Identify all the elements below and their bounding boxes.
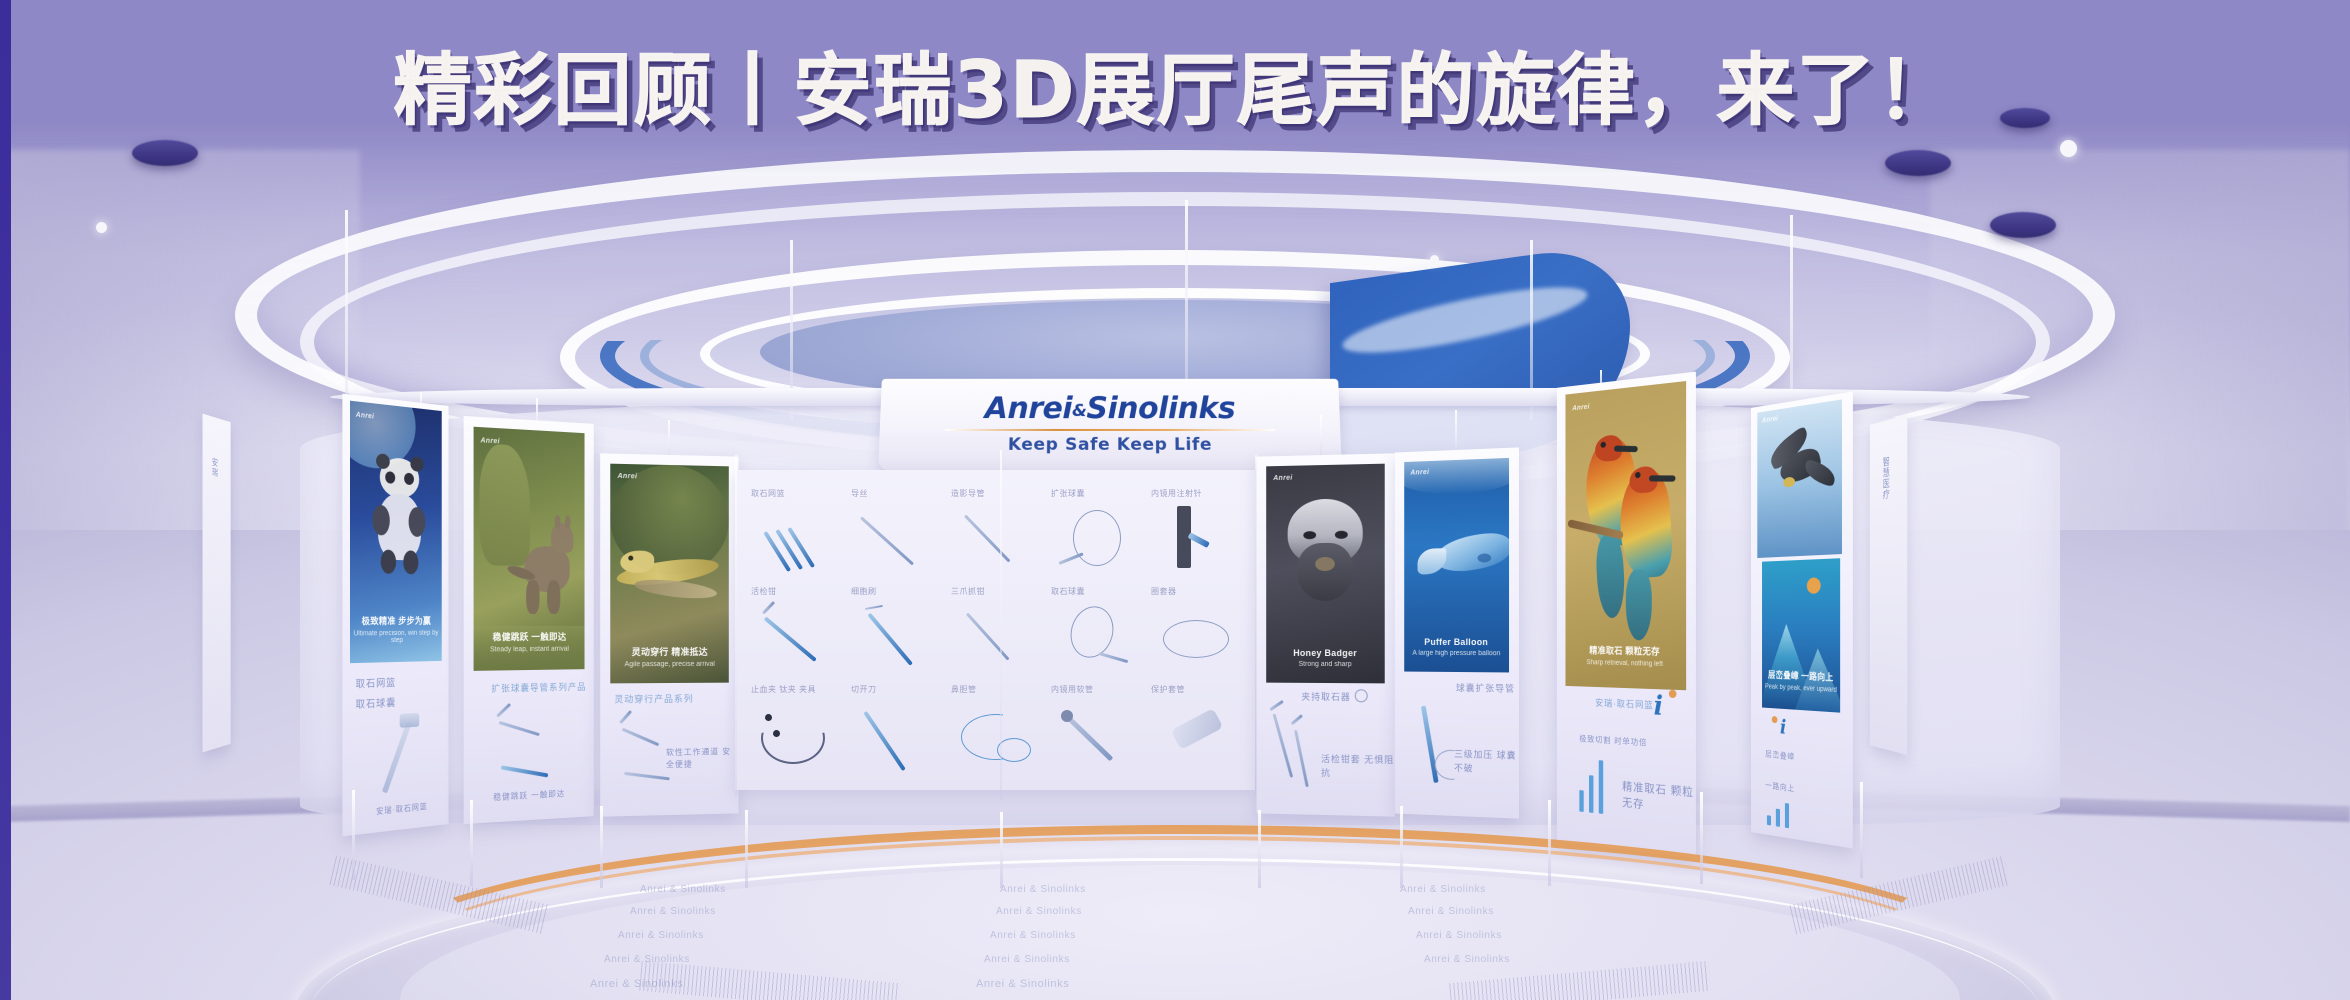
panel-label-kang-line1: 扩张球囊导管系列产品	[491, 681, 586, 696]
instrument-shaft	[763, 531, 791, 572]
product-cell[interactable]: 鼻胆管	[951, 684, 1047, 780]
panda-poster[interactable]: Anrei 极致精准 步步为赢 Ultimate precision, win …	[350, 401, 442, 664]
poster-brand-logo: Anrei	[480, 437, 500, 445]
stage-post	[1860, 782, 1863, 878]
product-cell[interactable]: 圈套器	[1151, 586, 1247, 682]
honey-badger-illustration	[1280, 498, 1371, 619]
panel-label-badger-footer: 活检钳套 无惧阻抗	[1321, 753, 1395, 781]
stage-post	[745, 810, 748, 888]
bar-chart-graphic	[1767, 800, 1789, 829]
stage-post	[470, 800, 473, 886]
device-jaw	[1269, 700, 1284, 711]
poster-caption: 层峦叠嶂 一路向上 Peak by peak, ever upward	[1762, 668, 1840, 694]
floor-text-line: Anrei & Sinolinks	[984, 954, 1070, 965]
poster-subtitle: Ultimate precision, win step by step	[350, 630, 442, 645]
product-label: 取石球囊	[1051, 586, 1085, 597]
left-wall-plaque-text: 安瑞	[210, 456, 219, 478]
ceiling-point-light	[1430, 255, 1439, 264]
bird-poster[interactable]: Anrei 精准取石 颗粒无存 Sharp retrieval, nothing…	[1565, 381, 1686, 690]
snake-poster[interactable]: Anrei 灵动穿行 精准抵达 Agile passage, precise a…	[610, 464, 729, 684]
snake-coil	[634, 576, 718, 601]
kangaroo-ear	[565, 515, 571, 529]
eagle-wing	[1802, 459, 1839, 488]
bar-chart-graphic	[1579, 757, 1603, 814]
device-illustration	[382, 721, 412, 793]
info-i-icon: i	[1654, 691, 1663, 722]
product-label: 活检钳	[751, 586, 777, 597]
panel-label-panda-footer: 安瑞·取石网篮	[376, 801, 428, 818]
product-cell[interactable]: 三爪抓钳	[951, 586, 1047, 682]
device-jaw	[1291, 714, 1303, 725]
badger-muzzle	[1297, 543, 1352, 601]
stage-post	[1548, 800, 1551, 886]
poster-brand-logo: Anrei	[617, 473, 637, 480]
floor-text-line: Anrei & Sinolinks	[990, 930, 1076, 941]
brand-name-left: Anrei	[984, 391, 1072, 425]
product-label: 三爪抓钳	[951, 586, 985, 597]
panel-label-mtn-line1: 层峦叠嶂	[1765, 749, 1795, 764]
eagle-illustration	[1764, 427, 1835, 522]
floor-text-line: Anrei & Sinolinks	[1416, 930, 1502, 941]
poster-caption: 灵动穿行 精准抵达 Agile passage, precise arrival	[610, 645, 729, 668]
water-surface	[1404, 458, 1509, 496]
stage-post	[1400, 806, 1403, 888]
panda-illustration	[371, 456, 427, 589]
instrument-stone-balloon	[1065, 601, 1120, 663]
panel-label-snake-line1: 灵动穿行产品系列	[614, 693, 693, 707]
product-cell[interactable]: 切开刀	[851, 684, 947, 780]
instrument-sphincterotome	[863, 711, 905, 771]
panda-leg	[403, 550, 418, 574]
poster-brand-logo: Anrei	[1572, 404, 1589, 413]
product-label: 内镜用软管	[1051, 684, 1094, 695]
board-seam	[1000, 450, 1002, 800]
panel-panda[interactable]: Anrei 极致精准 步步为赢 Ultimate precision, win …	[342, 394, 448, 837]
panel-label-snake-footer: 软性工作通道 安全便捷	[666, 746, 738, 771]
instrument-catheter	[964, 514, 1011, 562]
bird-beak-1	[1614, 445, 1638, 452]
instrument-tube-coil	[997, 738, 1031, 762]
instrument-shaft	[1099, 652, 1129, 663]
product-cell[interactable]: 细胞刷	[851, 586, 947, 682]
product-cell[interactable]: 导丝	[851, 488, 947, 584]
floor-text-line: Anrei & Sinolinks	[604, 954, 690, 965]
ceiling-point-light	[2060, 140, 2077, 157]
mountain-illustration	[1762, 614, 1840, 713]
instrument-biopsy-forceps	[764, 616, 817, 661]
product-label: 内镜用注射针	[1151, 488, 1202, 499]
instrument-connector	[1061, 710, 1073, 722]
instrument-tripod-grasper	[966, 612, 1010, 660]
panel-bird-highlight: 精准取石 颗粒无存	[1622, 780, 1696, 819]
sun-icon	[1807, 577, 1821, 594]
poster-caption: Honey Badger Strong and sharp	[1266, 648, 1385, 668]
poster-subtitle: A large high pressure balloon	[1404, 650, 1509, 657]
stage-post	[600, 806, 603, 888]
panel-kangaroo[interactable]: Anrei 稳健跳跃 一触即达 Steady leap, instant arr…	[464, 416, 594, 824]
poster-title: 极致精准 步步为赢	[350, 614, 442, 627]
floor-text-line: Anrei & Sinolinks	[1000, 884, 1086, 895]
eagle-talon	[1783, 477, 1795, 488]
brand-tagline: Keep Safe Keep Life	[1008, 434, 1213, 454]
poster-brand-logo: Anrei	[1273, 474, 1292, 481]
instrument-snare	[1163, 620, 1229, 658]
brand-name-right: Sinolinks	[1086, 391, 1235, 425]
badger-poster[interactable]: Anrei Honey Badger Strong and sharp	[1266, 464, 1385, 684]
product-label: 止血夹 钛夹 夹具	[751, 684, 816, 695]
panel-label-whale-footer: 球囊扩张导管	[1456, 682, 1515, 696]
product-cell[interactable]: 活检钳	[751, 586, 847, 682]
product-cell[interactable]: 止血夹 钛夹 夹具	[751, 684, 847, 780]
poster-title: 层峦叠嶂 一路向上	[1762, 668, 1840, 684]
whale-illustration	[1418, 529, 1509, 593]
bird-tail-2	[1626, 569, 1652, 640]
poster-subtitle: Steady leap, instant arrival	[474, 646, 585, 654]
instrument-clip	[773, 730, 780, 737]
product-cell[interactable]: 保护套管	[1151, 684, 1247, 780]
poster-caption: Puffer Balloon A large high pressure bal…	[1404, 637, 1509, 657]
ceiling-point-light	[96, 222, 107, 233]
device-shaft	[499, 721, 540, 736]
bird-beak-2	[1649, 475, 1676, 481]
panel-label-bird-line1: 极致切割 时单功倍	[1579, 733, 1647, 749]
product-cell[interactable]: 取石网篮	[751, 488, 847, 584]
product-cell[interactable]: 取石球囊	[1051, 586, 1147, 682]
floor-text-line: Anrei & Sinolinks	[618, 930, 704, 941]
panel-label-panda-line1: 取石网篮	[356, 676, 396, 693]
product-label: 造影导管	[951, 488, 985, 499]
floor-text-line: Anrei & Sinolinks	[1400, 884, 1486, 895]
poster-title: 稳健跳跃 一触即达	[474, 630, 585, 644]
product-display-board[interactable]: 取石网篮 导丝 造影导管 扩张球囊 内镜用注射针 活检钳	[735, 470, 1255, 790]
kangaroo-ear	[555, 515, 561, 529]
info-dot	[1669, 690, 1677, 698]
floor-text-line: Anrei & Sinolinks	[976, 978, 1069, 990]
panda-eye	[404, 473, 414, 486]
instrument-flexible-tube	[1065, 715, 1113, 762]
floor-text-line: Anrei & Sinolinks	[1424, 954, 1510, 965]
kangaroo-illustration	[507, 515, 575, 620]
ceiling-spotlight-puck	[1990, 212, 2056, 238]
poster-brand-logo: Anrei	[1410, 469, 1429, 477]
stage-post	[352, 790, 355, 880]
device-jaw	[496, 703, 511, 718]
device-handle	[400, 713, 420, 728]
poster-subtitle: Agile passage, precise arrival	[610, 661, 729, 668]
panel-snake[interactable]: Anrei 灵动穿行 精准抵达 Agile passage, precise a…	[600, 453, 738, 816]
panel-label-bird-footer: 安瑞·取石网篮	[1595, 697, 1653, 713]
panda-leg	[381, 549, 396, 574]
poster-caption: 稳健跳跃 一触即达 Steady leap, instant arrival	[474, 630, 585, 654]
device-shaft	[501, 765, 549, 777]
right-wall-plaque-text: 智慧医疗	[1879, 456, 1890, 502]
product-label: 扩张球囊	[1051, 488, 1085, 499]
snake-head	[620, 550, 654, 572]
panel-icon-circle	[1355, 689, 1368, 702]
instrument-cytology-brush	[867, 613, 912, 666]
floor-text-line: Anrei & Sinolinks	[1408, 906, 1494, 917]
poster-subtitle: Sharp retrieval, nothing left	[1565, 659, 1686, 669]
device-shaft	[1294, 730, 1309, 787]
product-cell[interactable]: 内镜用注射针	[1151, 488, 1247, 584]
eagle-poster[interactable]: Anrei	[1757, 399, 1842, 558]
instrument-shaft	[775, 529, 803, 570]
product-cell[interactable]: 内镜用软管	[1051, 684, 1147, 780]
floor-text-line: Anrei & Sinolinks	[590, 978, 683, 990]
bee-eater-illustration	[1581, 433, 1676, 638]
poster-brand-logo: Anrei	[1762, 415, 1778, 424]
instrument-shaft	[787, 527, 815, 568]
panel-label-kang-footer: 稳健跳跃 一触即达	[493, 788, 565, 804]
device-shaft	[624, 772, 670, 781]
instrument-guidewire	[860, 516, 914, 565]
product-label: 切开刀	[851, 684, 877, 695]
instrument-brush-head	[865, 605, 883, 610]
snake-eye	[628, 556, 633, 561]
floor-text-line: Anrei & Sinolinks	[630, 906, 716, 917]
left-edge-strip	[0, 0, 11, 1000]
product-label: 圈套器	[1151, 586, 1177, 597]
device-jaw	[619, 710, 632, 724]
instrument-balloon-loop	[1073, 510, 1121, 566]
poster-title: 灵动穿行 精准抵达	[610, 645, 729, 658]
whale-poster[interactable]: Anrei Puffer Balloon A large high pressu…	[1404, 458, 1509, 673]
bird-tail-1	[1595, 533, 1626, 618]
stage-post	[1700, 792, 1703, 884]
board-seam	[735, 455, 737, 795]
ceiling-spotlight-puck	[132, 140, 198, 166]
poster-title: Honey Badger	[1266, 648, 1385, 658]
instrument-clip	[765, 714, 772, 721]
panel-bird[interactable]: Anrei 精准取石 颗粒无存 Sharp retrieval, nothing…	[1557, 372, 1696, 859]
poster-caption: 极致精准 步步为赢 Ultimate precision, win step b…	[350, 614, 442, 645]
stage-post	[1258, 810, 1261, 888]
info-dot	[1772, 716, 1778, 723]
left-wall-plaque[interactable]: 安瑞	[203, 414, 231, 753]
instrument-protective-sheath	[1171, 708, 1224, 750]
exhibition-hall-banner: Anrei&Sinolinks Keep Safe Keep Life Anre…	[0, 0, 2350, 1000]
brand-divider	[945, 428, 1275, 430]
panel-eagle-mountain[interactable]: Anrei 层峦叠嶂 一路向上 Peak by peak, ever upwar…	[1751, 391, 1853, 848]
product-label: 保护套管	[1151, 684, 1185, 695]
page-title: 精彩回顾丨安瑞3D展厅尾声的旋律，来了！	[0, 28, 2350, 140]
info-i-icon: i	[1780, 715, 1786, 739]
product-cell[interactable]: 造影导管	[951, 488, 1047, 584]
panel-whale[interactable]: Anrei Puffer Balloon A large high pressu…	[1395, 447, 1519, 818]
kangaroo-head	[551, 523, 574, 553]
ceiling-spotlight-puck	[1885, 150, 1951, 176]
product-label: 导丝	[851, 488, 868, 499]
snake-illustration	[616, 538, 725, 619]
poster-caption: 精准取石 颗粒无存 Sharp retrieval, nothing left	[1565, 643, 1686, 668]
panel-label-panda-line2: 取石球囊	[356, 696, 396, 713]
product-label: 取石网篮	[751, 488, 785, 499]
floor-text-line: Anrei & Sinolinks	[640, 884, 726, 895]
kangaroo-poster[interactable]: Anrei 稳健跳跃 一触即达 Steady leap, instant arr…	[474, 427, 585, 671]
product-label: 细胞刷	[851, 586, 877, 597]
brand-wordmark: Anrei&Sinolinks	[985, 394, 1236, 424]
panda-arm	[409, 507, 426, 538]
kangaroo-leg	[547, 580, 560, 614]
product-label: 鼻胆管	[951, 684, 977, 695]
panda-ear	[410, 456, 423, 472]
whale-tail	[1418, 548, 1447, 574]
stage-post	[1000, 812, 1003, 888]
panda-eye	[385, 471, 395, 484]
instrument-jaw	[762, 601, 775, 615]
floor-text-line: Anrei & Sinolinks	[996, 906, 1082, 917]
kangaroo-leg	[526, 580, 539, 614]
right-wall-plaque[interactable]: 智慧医疗	[1870, 415, 1907, 755]
panel-label-mtn-footer: 一路向上	[1765, 780, 1795, 796]
poster-title: 精准取石 颗粒无存	[1565, 643, 1686, 658]
brand-ampersand: &	[1072, 401, 1086, 421]
poster-subtitle: Strong and sharp	[1266, 661, 1385, 668]
panel-badger[interactable]: Anrei Honey Badger Strong and sharp 夹持取石…	[1256, 453, 1394, 816]
panel-label-badger-line1: 夹持取石器	[1301, 691, 1350, 705]
product-cell[interactable]: 扩张球囊	[1051, 488, 1147, 584]
panda-ear	[376, 453, 390, 469]
poster-title: Puffer Balloon	[1404, 637, 1509, 647]
device-shaft	[622, 728, 660, 747]
mountain-poster[interactable]: 层峦叠嶂 一路向上 Peak by peak, ever upward	[1762, 558, 1840, 712]
panel-label-whale-line1: 三级加压 球囊不破	[1454, 748, 1519, 777]
panda-arm	[372, 505, 389, 536]
